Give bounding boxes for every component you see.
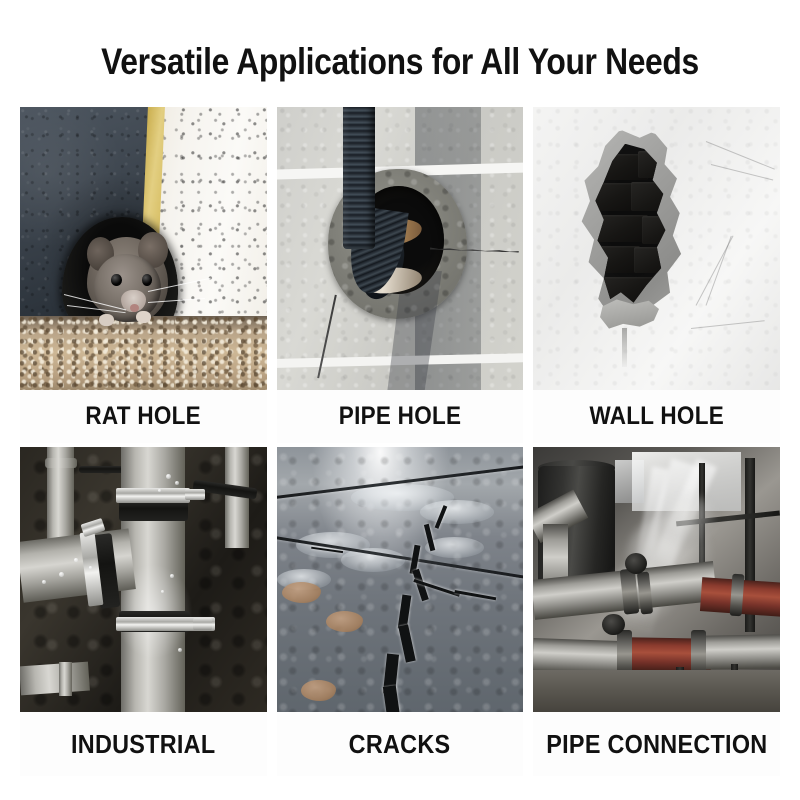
- pipe-connection-photo: [533, 447, 780, 712]
- valve-handle-upper: [625, 553, 647, 574]
- pipe-hole-photo: [277, 107, 524, 390]
- lower-silver-pipe-right: [701, 634, 780, 670]
- promo-collage: Versatile Applications for All Your Need…: [0, 0, 800, 800]
- rat-eye-left: [111, 274, 121, 286]
- water-droplet: [166, 474, 171, 479]
- caption-cracks: CRACKS: [277, 712, 524, 776]
- grid-item-pipe-connection[interactable]: PIPE CONNECTION: [533, 447, 780, 776]
- grid-item-label: WALL HOLE: [589, 402, 724, 431]
- gravel-ground: [20, 316, 267, 390]
- caption-rat-hole: RAT HOLE: [20, 390, 267, 443]
- page-title: Versatile Applications for All Your Need…: [56, 40, 744, 84]
- window-light-secondary: [615, 460, 645, 502]
- clamp-top: [116, 488, 190, 503]
- grid-item-pipe-hole[interactable]: PIPE HOLE: [277, 107, 524, 443]
- rat-nose: [130, 304, 139, 312]
- rat-head: [94, 254, 161, 322]
- caption-pipe-hole: PIPE HOLE: [277, 390, 524, 443]
- clamp-bottom-screw: [193, 618, 213, 630]
- coupling-top: [119, 500, 188, 521]
- background-pipe-left-collar: [45, 458, 77, 469]
- wall-hole-photo: [533, 107, 780, 390]
- lower-left-pipe: [20, 662, 90, 696]
- grid-item-label: PIPE CONNECTION: [546, 729, 767, 760]
- valve-handle-lower: [602, 614, 624, 635]
- caption-pipe-connection: PIPE CONNECTION: [533, 712, 780, 776]
- rat-paw-left: [99, 314, 114, 327]
- wet-patch: [420, 500, 494, 524]
- corrugated-pipe: [343, 107, 375, 249]
- wall-drip-mark: [622, 328, 627, 368]
- water-droplet: [161, 590, 164, 593]
- industrial-pipes-photo: [20, 447, 267, 712]
- caption-wall-hole: WALL HOLE: [533, 390, 780, 443]
- grid-item-label: RAT HOLE: [86, 402, 201, 431]
- application-grid: RAT HOLE PIPE HOLE: [20, 107, 780, 772]
- grid-item-rat-hole[interactable]: RAT HOLE: [20, 107, 267, 443]
- rat-hole-photo: [20, 107, 267, 390]
- water-droplet: [42, 580, 46, 584]
- grid-item-label: INDUSTRIAL: [71, 729, 215, 760]
- grid-item-cracks[interactable]: CRACKS: [277, 447, 524, 776]
- concrete-cracks-photo: [277, 447, 524, 712]
- steam-cloud: [662, 495, 716, 543]
- rust-stain: [301, 680, 336, 701]
- clamp-top-screw: [185, 489, 205, 500]
- grid-item-label: CRACKS: [349, 729, 451, 760]
- caption-industrial: INDUSTRIAL: [20, 712, 267, 776]
- grid-item-wall-hole[interactable]: WALL HOLE: [533, 107, 780, 443]
- rat-paw-right: [136, 311, 151, 324]
- plant-floor: [533, 670, 780, 712]
- grid-item-industrial[interactable]: INDUSTRIAL: [20, 447, 267, 776]
- lower-left-pipe-collar: [59, 662, 71, 696]
- grid-item-label: PIPE HOLE: [339, 402, 461, 431]
